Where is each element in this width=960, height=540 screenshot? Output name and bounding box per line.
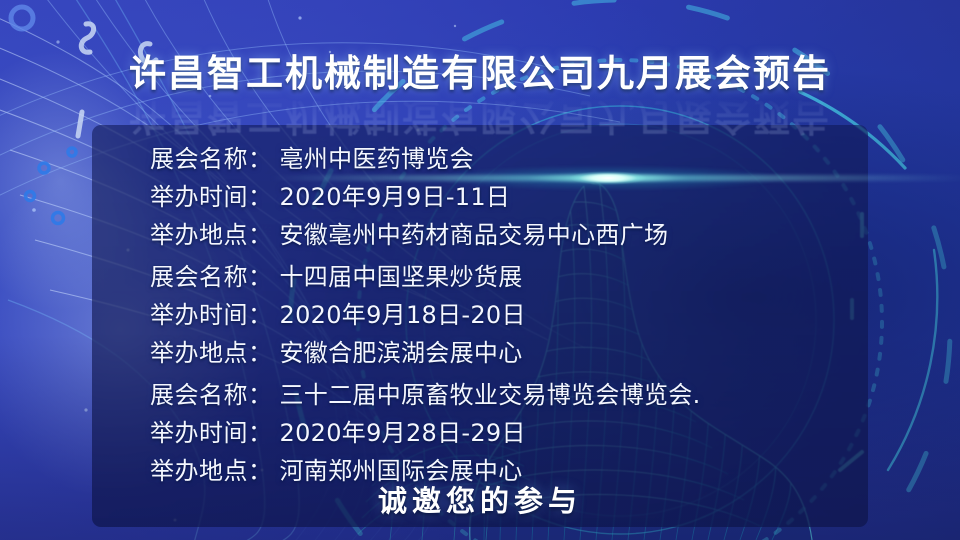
exhibition-place-label: 举办地点： [150, 216, 273, 254]
exhibition-time-row: 举办时间： 2020年9月9日-11日 [150, 178, 668, 216]
footer-cta: 诚邀您的参与 [0, 478, 960, 520]
exhibition-block-3: 展会名称： 三十二届中原畜牧业交易博览会博览会. 举办时间： 2020年9月28… [150, 376, 701, 490]
exhibition-name-value: 亳州中医药博览会 [280, 140, 474, 178]
exhibition-block-1: 展会名称： 亳州中医药博览会 举办时间： 2020年9月9日-11日 举办地点：… [150, 140, 668, 254]
exhibition-name-row: 展会名称： 十四届中国坚果炒货展 [150, 258, 526, 296]
exhibition-name-value: 三十二届中原畜牧业交易博览会博览会. [280, 376, 701, 414]
exhibition-name-value: 十四届中国坚果炒货展 [280, 258, 523, 296]
exhibition-name-label: 展会名称： [150, 258, 273, 296]
exhibition-time-label: 举办时间： [150, 296, 273, 334]
exhibition-block-2: 展会名称： 十四届中国坚果炒货展 举办时间： 2020年9月18日-20日 举办… [150, 258, 526, 372]
exhibition-name-label: 展会名称： [150, 140, 273, 178]
exhibition-time-value: 2020年9月18日-20日 [280, 296, 526, 334]
exhibition-place-value: 安徽亳州中药材商品交易中心西广场 [280, 216, 669, 254]
exhibition-place-label: 举办地点： [150, 334, 273, 372]
exhibition-time-value: 2020年9月9日-11日 [280, 178, 511, 216]
exhibition-name-row: 展会名称： 亳州中医药博览会 [150, 140, 668, 178]
exhibition-place-row: 举办地点： 安徽亳州中药材商品交易中心西广场 [150, 216, 668, 254]
exhibition-place-row: 举办地点： 安徽合肥滨湖会展中心 [150, 334, 526, 372]
exhibition-time-label: 举办时间： [150, 178, 273, 216]
exhibition-time-row: 举办时间： 2020年9月28日-29日 [150, 414, 701, 452]
page-title: 许昌智工机械制造有限公司九月展会预告 [129, 52, 831, 96]
exhibition-name-row: 展会名称： 三十二届中原畜牧业交易博览会博览会. [150, 376, 701, 414]
exhibition-time-value: 2020年9月28日-29日 [280, 414, 526, 452]
poster-canvas: 许昌智工机械制造有限公司九月展会预告 许昌智工机械制造有限公司九月展会预告 展会… [0, 0, 960, 540]
exhibition-name-label: 展会名称： [150, 376, 273, 414]
exhibition-place-value: 安徽合肥滨湖会展中心 [280, 334, 523, 372]
exhibition-time-label: 举办时间： [150, 414, 273, 452]
page-title-wrapper: 许昌智工机械制造有限公司九月展会预告 [0, 52, 960, 96]
exhibition-time-row: 举办时间： 2020年9月18日-20日 [150, 296, 526, 334]
